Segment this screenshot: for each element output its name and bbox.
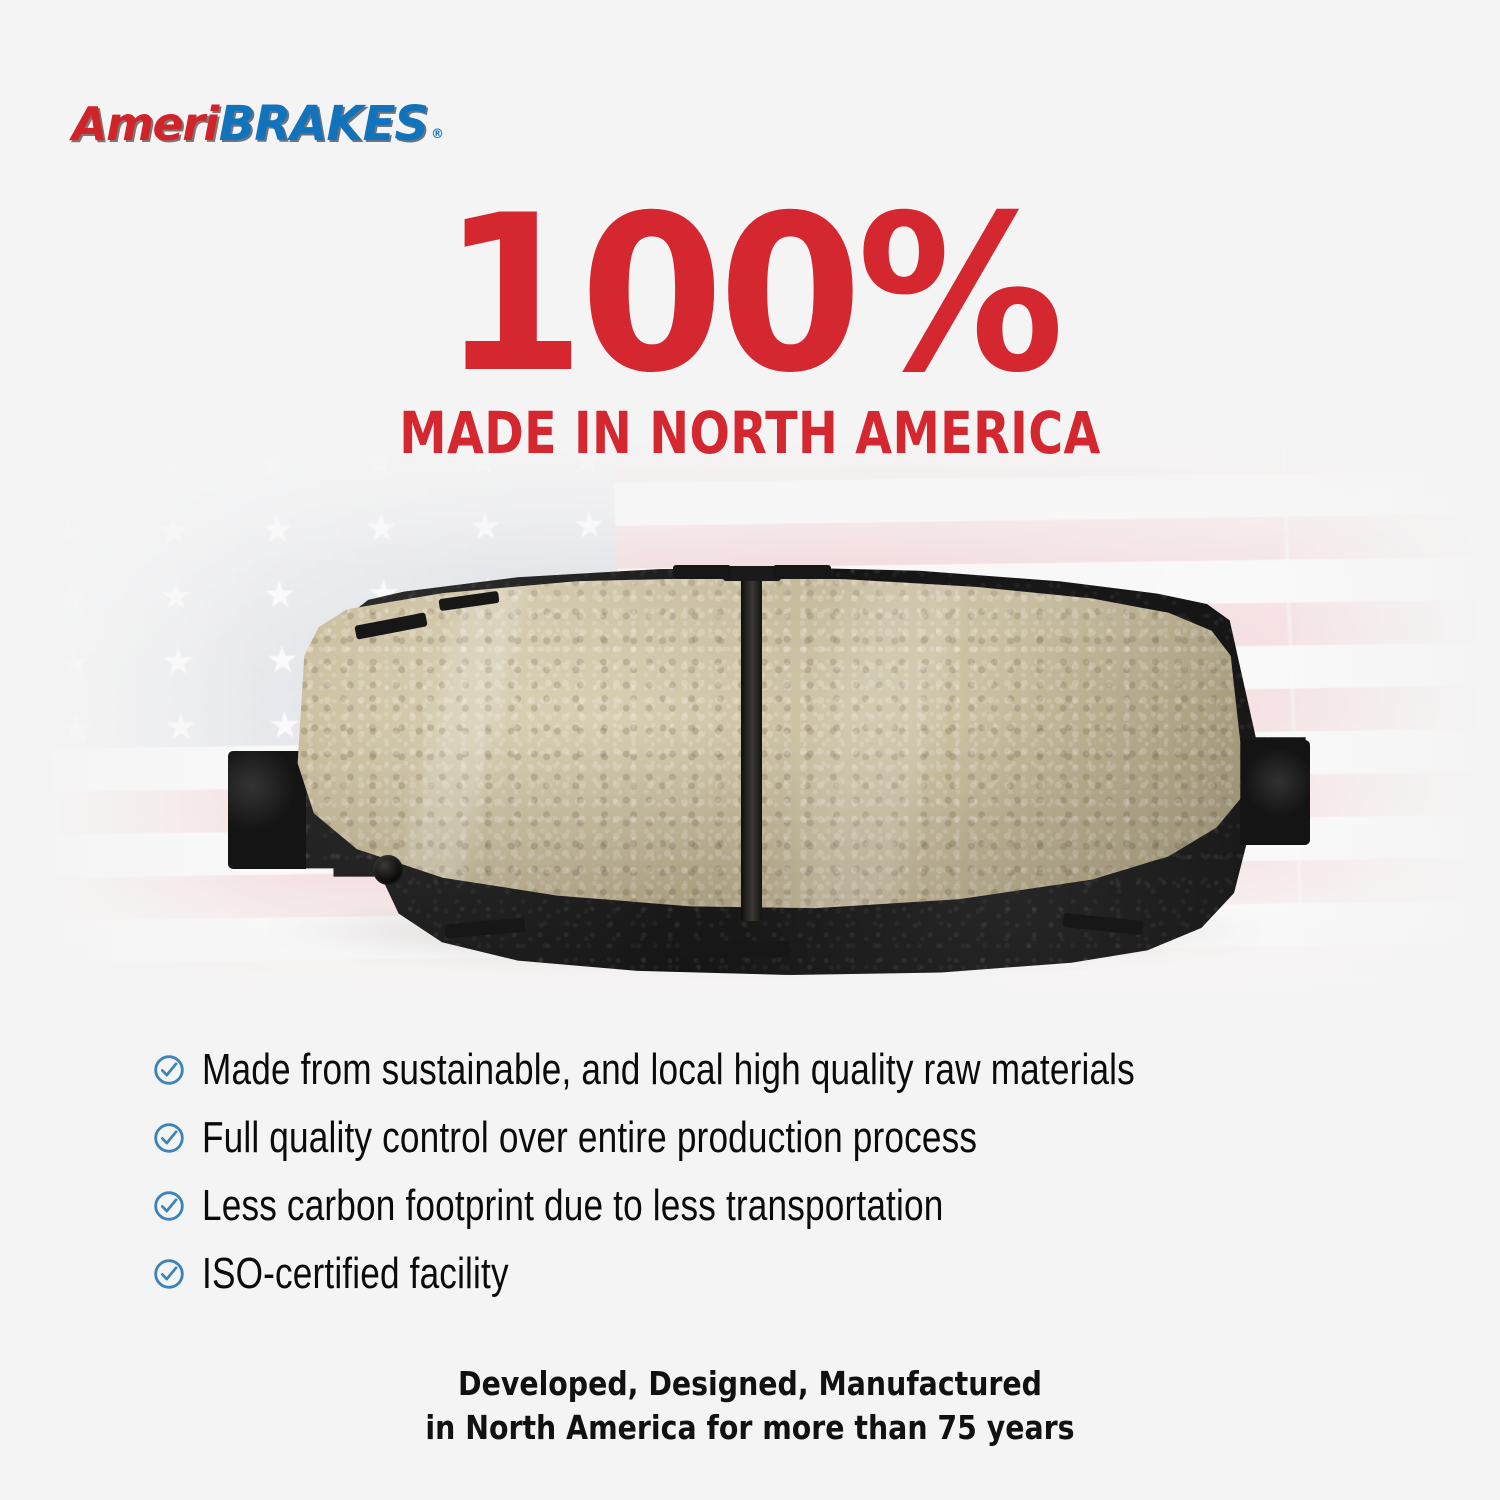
list-item: Less carbon footprint due to less transp… (152, 1172, 1372, 1240)
list-item: ISO-certified facility (152, 1240, 1372, 1308)
flag-star (163, 647, 194, 677)
flag-star (160, 581, 191, 611)
flag-fade-right (1280, 430, 1500, 1050)
flag-star (61, 713, 92, 743)
flag-fold-1 (40, 448, 66, 1008)
check-circle-icon (152, 1257, 186, 1291)
feature-list: Made from sustainable, and local high qu… (152, 1036, 1372, 1308)
feature-text: ISO-certified facility (202, 1252, 509, 1296)
brake-pad-tab-top-center-left (673, 565, 731, 579)
check-circle-icon (152, 1121, 186, 1155)
list-item: Made from sustainable, and local high qu… (152, 1036, 1372, 1104)
feature-text: Less carbon footprint due to less transp… (202, 1184, 943, 1228)
logo-text-ameri: Ameri (72, 101, 218, 147)
brake-pad-center-slot (741, 569, 762, 921)
flag-star (54, 518, 85, 548)
flag-star (59, 648, 90, 678)
brake-pad-tab-bottom-center (680, 941, 790, 957)
check-circle-icon (152, 1053, 186, 1087)
flag-star (262, 515, 293, 545)
flag-star (56, 583, 87, 613)
check-circle-icon (152, 1189, 186, 1223)
flag-star (158, 516, 189, 546)
registered-trademark-icon: ® (431, 128, 444, 141)
promo-card: AmeriBRAKES® 100% MADE IN NORTH AMERICA (0, 0, 1500, 1500)
headline-subtitle: MADE IN NORTH AMERICA (135, 404, 1365, 462)
brake-pad-image (225, 565, 1310, 985)
flag-star (366, 513, 397, 543)
headline-percent: 100% (30, 196, 1470, 395)
flag-star (51, 452, 82, 482)
flag-star (574, 510, 605, 540)
footer-tagline: Developed, Designed, Manufactured in Nor… (0, 1362, 1500, 1449)
flag-star (470, 512, 501, 542)
brake-pad-mounting-hole (373, 855, 403, 885)
feature-text: Full quality control over entire product… (202, 1116, 977, 1160)
brake-pad-tab-top-center-right (773, 565, 831, 579)
brake-pad-ear-left (228, 751, 306, 869)
list-item: Full quality control over entire product… (152, 1104, 1372, 1172)
flag-fade-left (0, 430, 260, 1050)
flag-star (165, 712, 196, 742)
brake-pad-ear-right (1240, 740, 1310, 845)
footer-line-2: in North America for more than 75 years (105, 1406, 1395, 1450)
logo-text-brakes: BRAKES (219, 100, 428, 148)
footer-line-1: Developed, Designed, Manufactured (105, 1362, 1395, 1406)
feature-text: Made from sustainable, and local high qu… (202, 1048, 1135, 1092)
brand-logo: AmeriBRAKES® (72, 100, 444, 148)
